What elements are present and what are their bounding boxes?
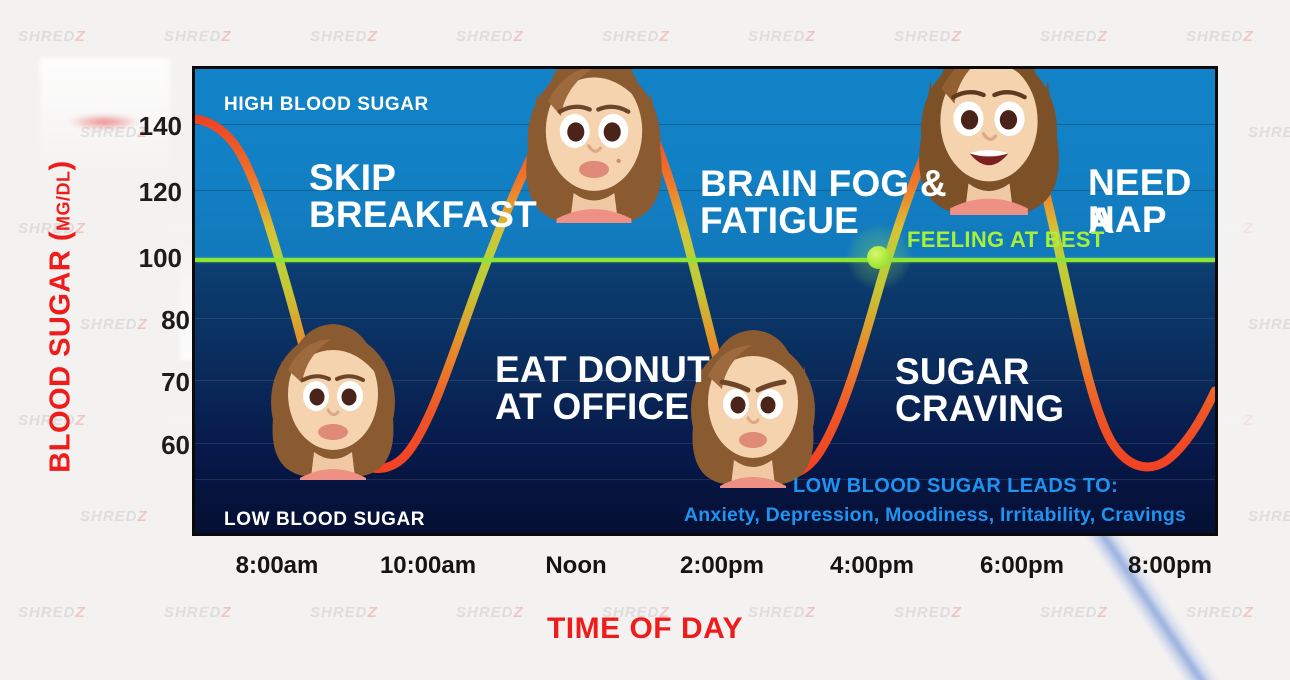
x-tick-6pm: 6:00pm	[980, 552, 1064, 580]
annotation-sugar-craving-line2: CRAVING	[895, 390, 1064, 428]
y-tick-140: 140	[112, 111, 182, 142]
chart-panel: HIGH BLOOD SUGAR LOW BLOOD SUGAR SKIP BR…	[192, 66, 1218, 536]
chart-plot-area: HIGH BLOOD SUGAR LOW BLOOD SUGAR SKIP BR…	[195, 69, 1215, 533]
annotation-brain-fog-line2: FATIGUE	[700, 202, 859, 240]
y-tick-70: 70	[120, 367, 190, 398]
annotation-sugar-craving-line1: SUGAR	[895, 353, 1030, 391]
high-blood-sugar-label: HIGH BLOOD SUGAR	[224, 95, 429, 114]
footnote-title: LOW BLOOD SUGAR LEADS TO:	[793, 475, 1118, 498]
y-tick-80: 80	[120, 305, 190, 336]
x-tick-2pm: 2:00pm	[680, 552, 764, 580]
threshold-line-100	[195, 258, 1215, 262]
low-blood-sugar-label: LOW BLOOD SUGAR	[224, 510, 425, 529]
y-tick-100: 100	[112, 243, 182, 274]
avatar-upset-low	[678, 318, 828, 488]
y-tick-120: 120	[112, 177, 182, 208]
annotation-brain-fog-line1: BRAIN FOG &	[700, 165, 947, 203]
annotation-skip-breakfast-line1: SKIP	[309, 159, 396, 197]
x-tick-noon: Noon	[545, 552, 606, 580]
feeling-at-best-dot	[867, 246, 890, 269]
annotation-skip-breakfast-line2: BREAKFAST	[309, 196, 537, 234]
footnote-list: Anxiety, Depression, Moodiness, Irritabi…	[684, 504, 1186, 527]
y-axis-title-main: BLOOD SUGAR (	[45, 231, 77, 473]
x-tick-8am: 8:00am	[236, 552, 319, 580]
y-tick-60: 60	[120, 430, 190, 461]
annotation-eat-donut-line1: EAT DONUT	[495, 351, 710, 389]
avatar-surprised-peak	[513, 69, 675, 223]
x-axis-title: TIME OF DAY	[0, 612, 1290, 646]
x-tick-8pm: 8:00pm	[1128, 552, 1212, 580]
x-tick-10am: 10:00am	[380, 552, 476, 580]
y-axis-title-unit: MG/DL	[54, 170, 74, 231]
annotation-eat-donut-line2: AT OFFICE	[495, 388, 689, 426]
annotation-feeling-at-best: FEELING AT BEST	[907, 227, 1105, 253]
x-tick-4pm: 4:00pm	[830, 552, 914, 580]
y-axis-title-close: )	[45, 160, 77, 170]
y-axis-ticks: 140 120 100 80 70 60	[110, 0, 182, 680]
y-axis-title: BLOOD SUGAR (MG/DL)	[45, 152, 78, 482]
avatar-neutral-1	[258, 310, 408, 480]
